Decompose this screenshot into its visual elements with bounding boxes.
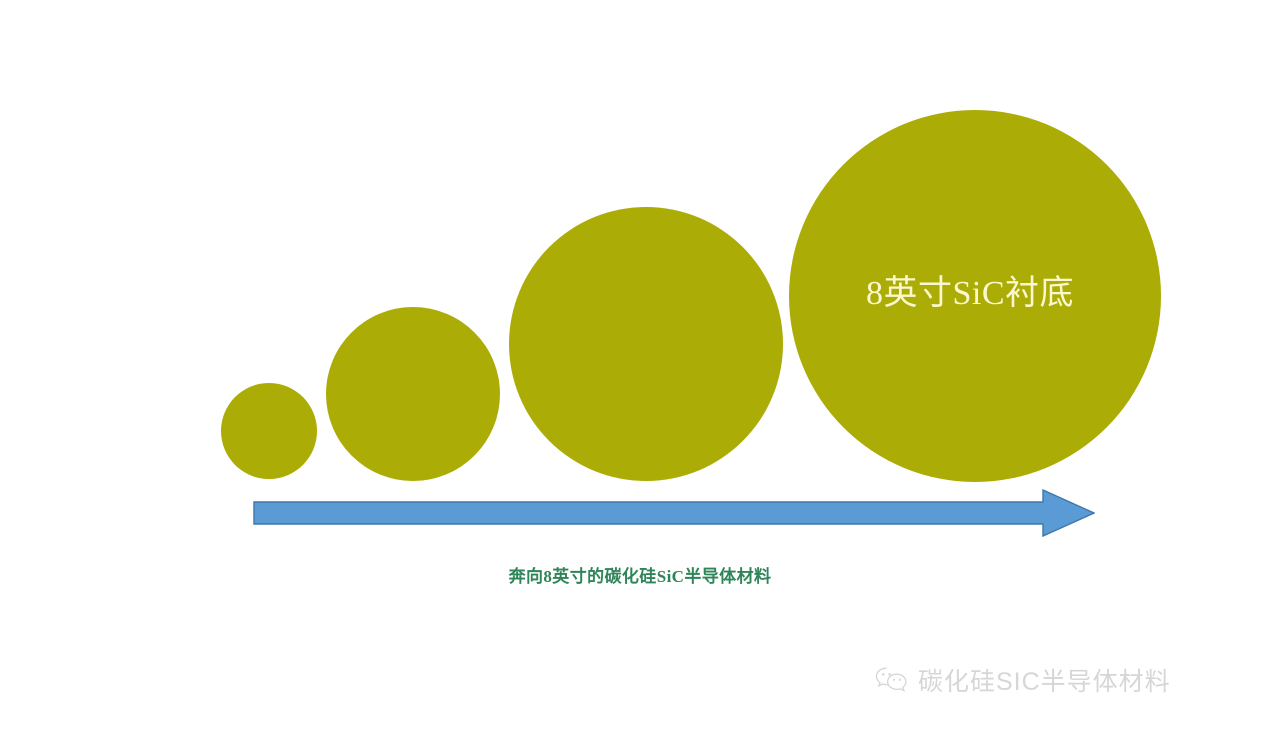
progress-arrow-shape (253, 489, 1095, 537)
wafer-circle-6-inch (509, 207, 783, 481)
progress-arrow (253, 489, 1095, 537)
wafer-circle-2-inch (221, 383, 317, 479)
watermark-text: 碳化硅SIC半导体材料 (918, 662, 1171, 698)
arrow-polygon (254, 490, 1094, 536)
wechat-icon-shape (875, 666, 909, 694)
wafer-circle-4-inch (326, 307, 500, 481)
wafer-8-inch-label: 8英寸SiC衬底 (866, 277, 1074, 311)
watermark: 碳化硅SIC半导体材料 (875, 662, 1171, 698)
slide-canvas: 8英寸SiC衬底 奔向8英寸的碳化硅SiC半导体材料 碳化硅SIC半导体材料 (0, 0, 1280, 750)
diagram-caption: 奔向8英寸的碳化硅SiC半导体材料 (0, 562, 1280, 587)
wechat-icon (875, 666, 909, 694)
